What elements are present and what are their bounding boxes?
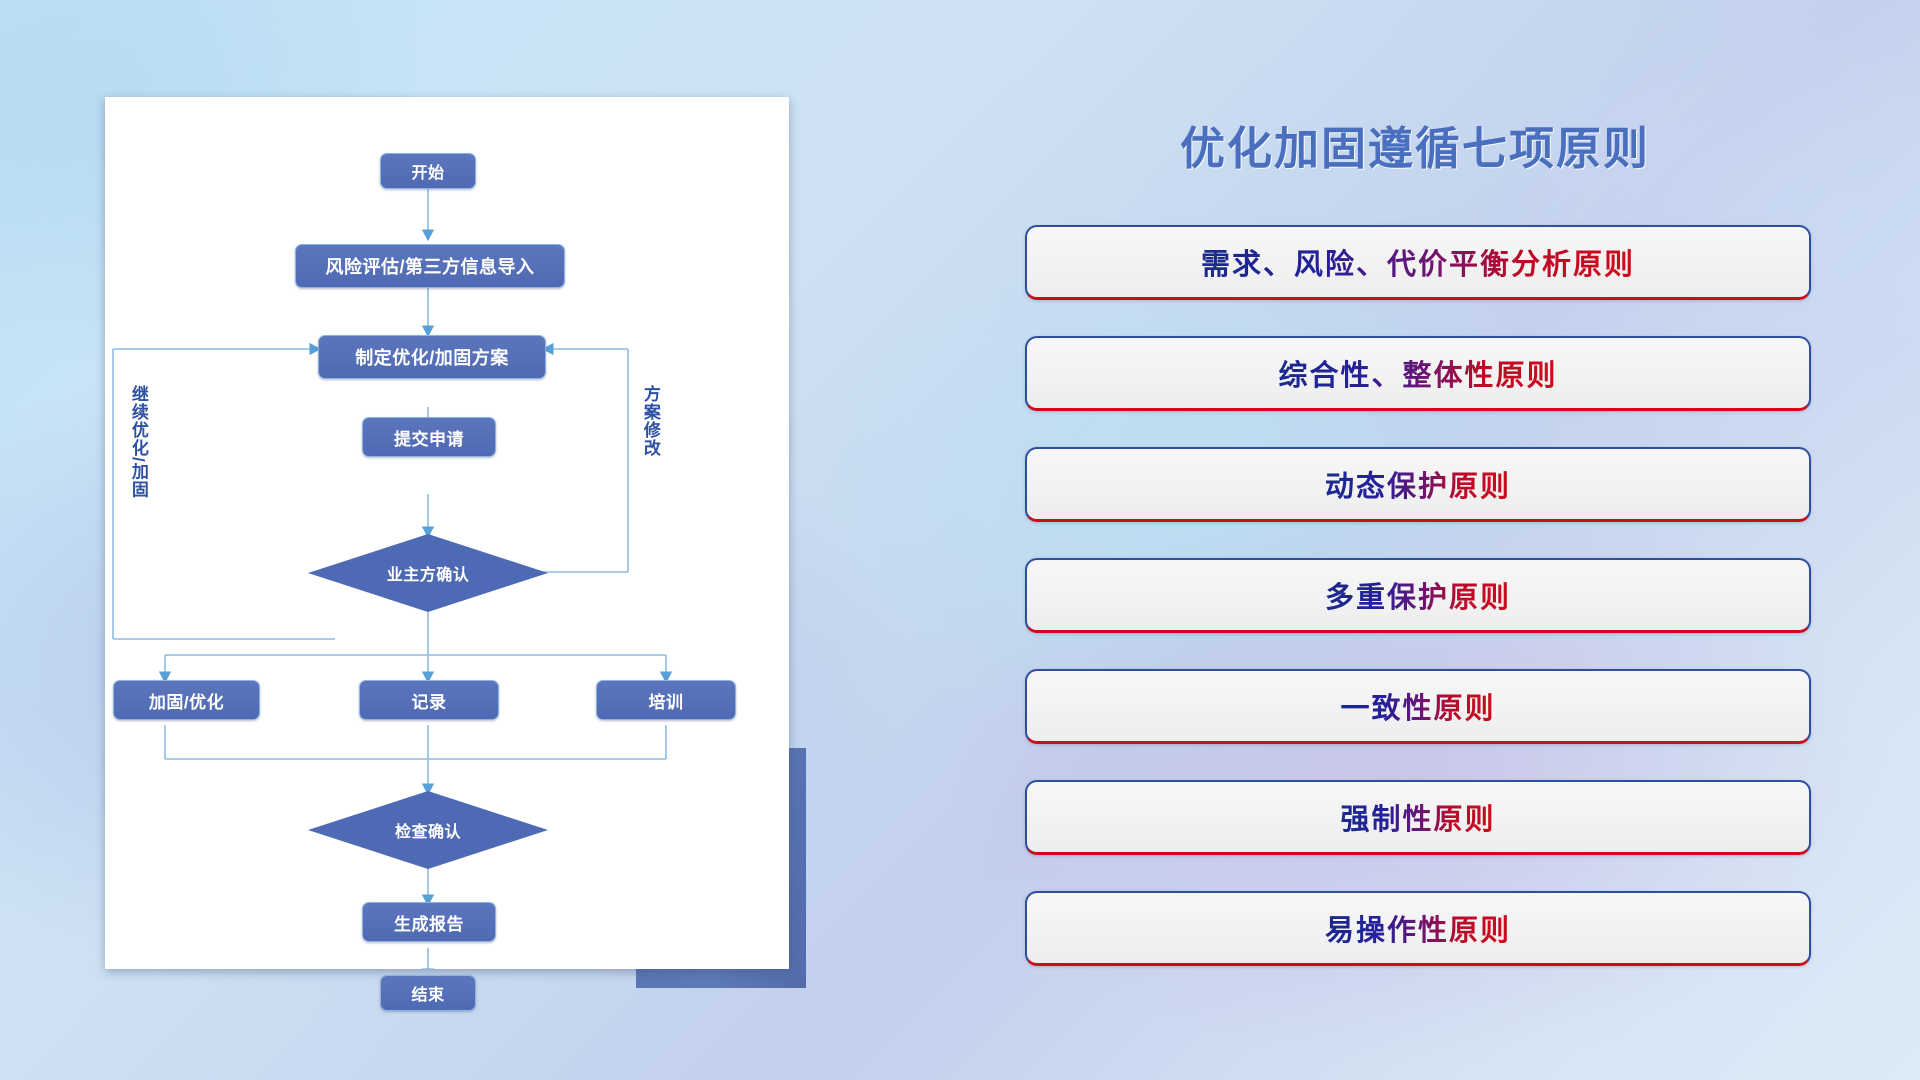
flowchart-card: 开始 风险评估/第三方信息导入 制定优化/加固方案 提交申请 业主方确认 加固/… <box>105 97 789 969</box>
principle-item[interactable]: 动态保护原则 <box>1025 447 1811 522</box>
flow-node-label: 培训 <box>649 688 684 713</box>
principle-label: 多重保护原则 <box>1325 574 1511 616</box>
flow-node-label: 业主方确认 <box>308 534 548 612</box>
flow-node-start[interactable]: 开始 <box>380 153 476 189</box>
flow-node-reinforce[interactable]: 加固/优化 <box>113 680 260 720</box>
flow-node-label: 加固/优化 <box>149 688 224 713</box>
flow-node-label: 风险评估/第三方信息导入 <box>326 253 535 279</box>
principle-label: 需求、风险、代价平衡分析原则 <box>1201 241 1635 283</box>
flow-node-plan[interactable]: 制定优化/加固方案 <box>318 335 546 379</box>
flow-node-label: 结束 <box>411 981 444 1005</box>
flow-node-owner-confirm[interactable]: 业主方确认 <box>308 534 548 612</box>
flow-node-record[interactable]: 记录 <box>359 680 499 720</box>
principle-item[interactable]: 综合性、整体性原则 <box>1025 336 1811 411</box>
flow-node-generate-report[interactable]: 生成报告 <box>362 902 496 942</box>
edge-label-continue-optimize: 继续优化/加固 <box>129 385 147 499</box>
principle-label: 易操作性原则 <box>1325 907 1511 949</box>
principle-item[interactable]: 易操作性原则 <box>1025 891 1811 966</box>
flow-node-risk-assessment[interactable]: 风险评估/第三方信息导入 <box>295 244 565 288</box>
edge-label-plan-revision: 方案修改 <box>641 385 659 457</box>
flow-node-label: 记录 <box>412 688 447 713</box>
flow-node-label: 制定优化/加固方案 <box>355 344 509 370</box>
flow-node-submit-application[interactable]: 提交申请 <box>362 417 496 457</box>
flow-node-label: 检查确认 <box>308 791 548 869</box>
principle-item[interactable]: 强制性原则 <box>1025 780 1811 855</box>
flow-node-label: 提交申请 <box>394 425 464 450</box>
flow-node-training[interactable]: 培训 <box>596 680 736 720</box>
flow-node-check-confirm[interactable]: 检查确认 <box>308 791 548 869</box>
flow-node-label: 开始 <box>411 159 444 183</box>
principle-item[interactable]: 需求、风险、代价平衡分析原则 <box>1025 225 1811 300</box>
principle-label: 动态保护原则 <box>1325 463 1511 505</box>
principle-label: 强制性原则 <box>1340 796 1495 838</box>
principle-item[interactable]: 一致性原则 <box>1025 669 1811 744</box>
flow-node-label: 生成报告 <box>394 910 464 935</box>
panel-title: 优化加固遵循七项原则 <box>1005 112 1825 177</box>
flow-node-end[interactable]: 结束 <box>380 975 476 1011</box>
principle-label: 一致性原则 <box>1340 685 1495 727</box>
principle-label: 综合性、整体性原则 <box>1278 352 1557 394</box>
principle-item[interactable]: 多重保护原则 <box>1025 558 1811 633</box>
principles-panel: 优化加固遵循七项原则 需求、风险、代价平衡分析原则 综合性、整体性原则 动态保护… <box>1005 100 1825 1000</box>
